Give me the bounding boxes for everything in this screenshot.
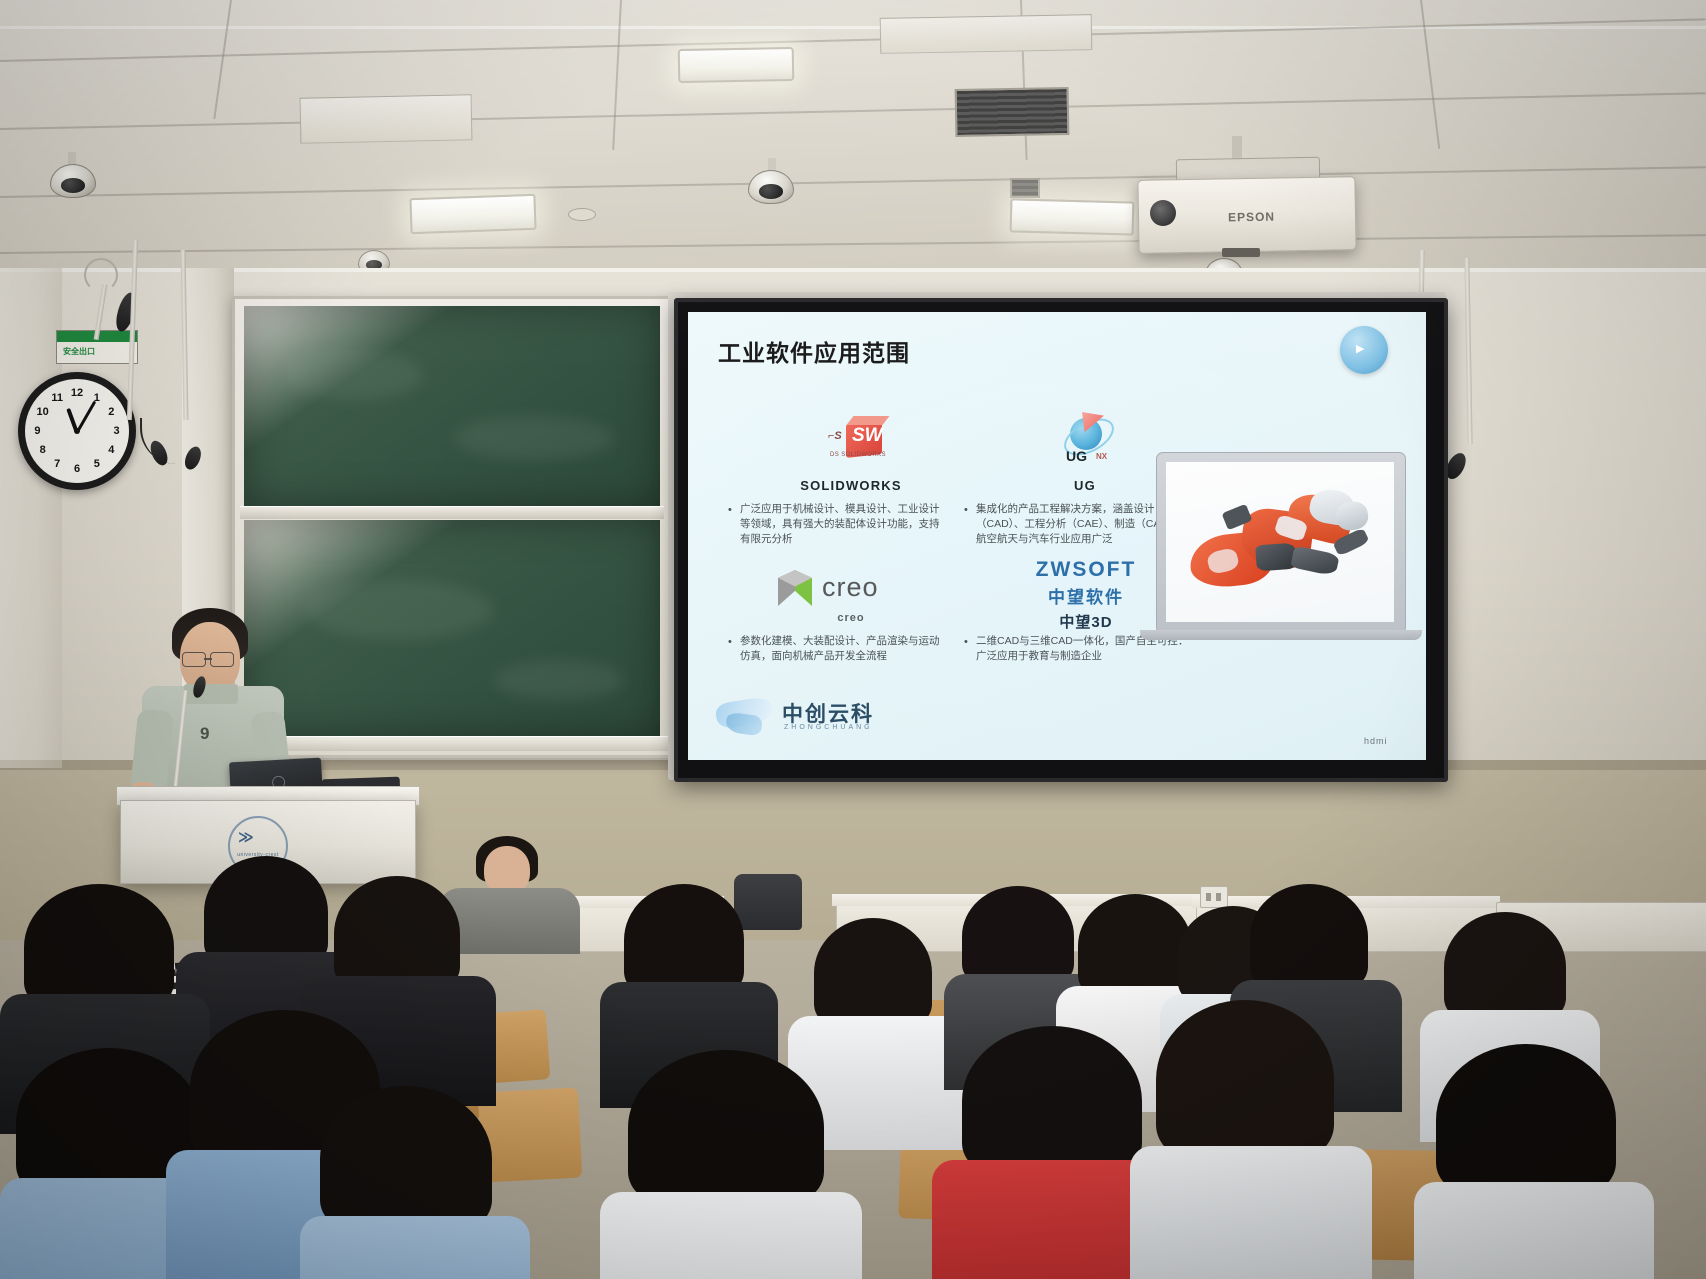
- lecture-hall-scene: EPSON 12 1 2 3 4 5 6 7 8 9 10 11 安全出口: [0, 0, 1706, 1279]
- audience-body: [300, 1216, 530, 1279]
- clock-face: 12 1 2 3 4 5 6 7 8 9 10 11: [25, 379, 129, 483]
- slide-badge-icon[interactable]: ▶: [1340, 326, 1388, 374]
- clock-numeral: 3: [109, 425, 125, 437]
- audience-hair: [334, 876, 460, 992]
- bullet-marker: •: [964, 636, 968, 648]
- clock-numeral: 7: [49, 458, 65, 470]
- shirt-graphic: 9: [200, 724, 209, 744]
- audience-member-front: [1130, 1000, 1360, 1279]
- slide-title: 工业软件应用范围: [718, 334, 910, 368]
- creo-logo-icon: creo: [778, 568, 958, 608]
- glasses-icon: [210, 652, 234, 667]
- software-body-solidworks: 广泛应用于机械设计、模具设计、工业设计等领域，具有强大的装配体设计功能，支持有限…: [740, 502, 948, 548]
- smoke-detector-icon: [568, 208, 596, 221]
- projector-lens-icon: [1150, 200, 1176, 226]
- clock-numeral: 12: [69, 387, 85, 399]
- slide-corner-brand: hdmi: [1364, 736, 1388, 746]
- clock-center-pin: [74, 428, 80, 434]
- chalkboard-upper-panel: [244, 306, 660, 506]
- audience-hair: [628, 1050, 824, 1206]
- wall-clock: 12 1 2 3 4 5 6 7 8 9 10 11: [18, 372, 136, 490]
- audience-member-front: [300, 1086, 520, 1279]
- ceiling-light: [678, 47, 795, 83]
- wall-pillar: [0, 268, 62, 768]
- laptop-screen: [1166, 462, 1394, 622]
- audience-head: [484, 846, 530, 894]
- solidworks-logo-icon: SW ⌐S DS SOLIDWORKS: [828, 416, 888, 468]
- glasses-bridge: [204, 658, 212, 660]
- clock-numeral: 9: [29, 425, 45, 437]
- wall-edge: [0, 268, 1706, 272]
- creo-logo-text: creo: [822, 572, 879, 603]
- audience-hair: [24, 884, 174, 1010]
- audience-hair: [962, 1026, 1142, 1176]
- bullet-marker: •: [728, 504, 732, 516]
- audience-body: [1130, 1146, 1372, 1279]
- bullet-marker: •: [728, 636, 732, 648]
- footer-brand-logo: 中创云科 ZHONGCHUANG: [716, 694, 916, 744]
- audience-member-front: [600, 1050, 850, 1279]
- chalk-smudge: [284, 350, 424, 400]
- ceiling-panel: [300, 94, 473, 144]
- clock-numeral: 1: [89, 392, 105, 404]
- exit-sign-label: 安全出口: [63, 346, 95, 357]
- software-name-creo: creo: [746, 612, 956, 624]
- audience-body: [1414, 1182, 1654, 1279]
- motorcycle-3d-model: [1184, 488, 1380, 598]
- dome-camera-icon: [50, 164, 96, 198]
- audience-hair: [624, 884, 744, 996]
- ceiling: [0, 0, 1706, 300]
- solidworks-logo-text: SW: [852, 425, 883, 447]
- ceiling-light: [1010, 198, 1135, 235]
- software-name-solidworks: SOLIDWORKS: [746, 478, 956, 493]
- footer-brand-en: ZHONGCHUANG: [784, 724, 873, 731]
- chalk-rail: [240, 506, 664, 519]
- chalk-smudge: [454, 416, 614, 460]
- clock-numeral: 10: [35, 406, 51, 418]
- audience-member-front: [1414, 1044, 1644, 1279]
- projector-foot: [1222, 248, 1260, 257]
- ug-logo-icon: UG NX: [1060, 412, 1118, 466]
- ceiling-vent: [1010, 178, 1040, 198]
- clock-numeral: 5: [89, 458, 105, 470]
- audience-hair: [814, 918, 932, 1028]
- dome-camera-icon: [748, 170, 794, 204]
- audience-hair: [320, 1086, 492, 1232]
- projector-brand-label: EPSON: [1228, 210, 1275, 225]
- glasses-icon: [182, 652, 206, 667]
- clock-numeral: 11: [49, 392, 65, 404]
- ug-logo-sub: NX: [1096, 452, 1107, 461]
- audience-hair: [1156, 1000, 1334, 1160]
- chalk-smudge: [494, 660, 624, 700]
- audience-body: [600, 1192, 862, 1279]
- presenter-collar: [184, 684, 238, 704]
- ceiling-vent: [955, 87, 1070, 137]
- bullet-marker: •: [964, 504, 968, 516]
- clock-numeral: 2: [103, 406, 119, 418]
- audience-hair: [1436, 1044, 1616, 1196]
- solidworks-logo-sub: DS SOLIDWORKS: [830, 452, 886, 458]
- ceiling-light: [409, 194, 536, 234]
- clock-numeral: 6: [69, 463, 85, 475]
- slide-badge-label: ▶: [1356, 342, 1364, 355]
- audience-hair: [1444, 912, 1566, 1022]
- software-body-creo: 参数化建模、大装配设计、产品渲染与运动仿真，面向机械产品开发全流程: [740, 634, 948, 664]
- ceiling-panel: [880, 14, 1093, 54]
- podium-emblem-icon: ≫: [238, 828, 254, 846]
- audience-hair: [1250, 884, 1368, 990]
- clock-numeral: 8: [35, 444, 51, 456]
- laptop-base: [1140, 630, 1422, 640]
- projected-slide[interactable]: 工业软件应用范围 ▶ SW ⌐S DS SOLIDWORKS SOLIDWORK…: [688, 312, 1426, 760]
- clock-numeral: 4: [103, 444, 119, 456]
- ug-logo-text: UG: [1066, 448, 1087, 464]
